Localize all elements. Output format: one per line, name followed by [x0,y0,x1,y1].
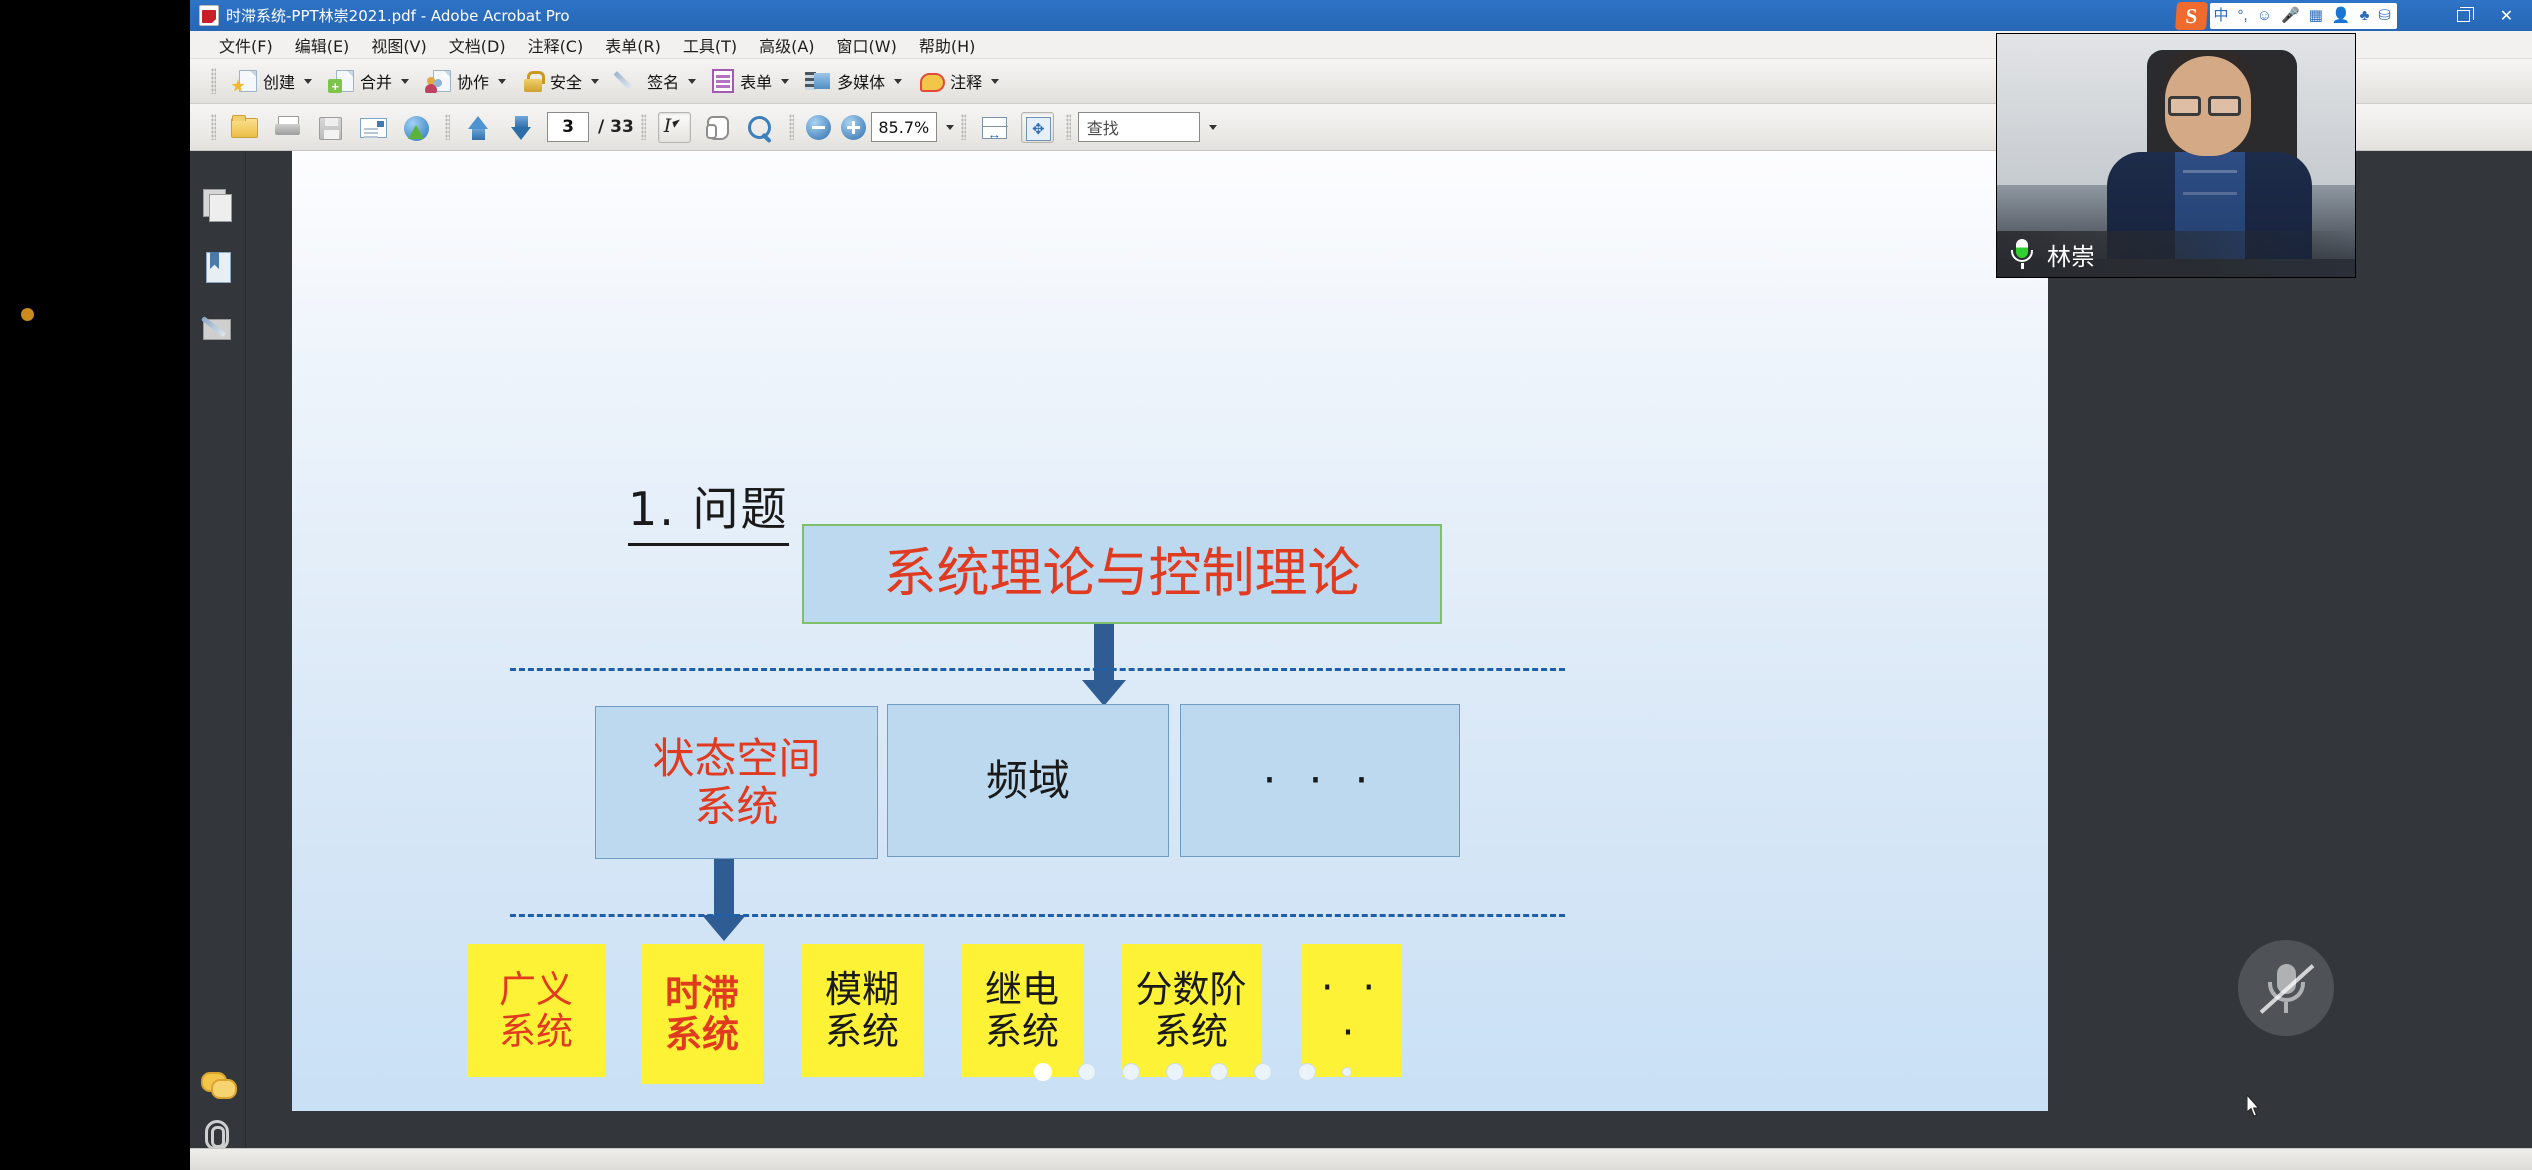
slide-pagination-dots [1034,1063,1352,1081]
combine-files-icon [328,69,354,93]
document-viewport[interactable]: 1. 问题 系统理论与控制理论 状态空间 系统 频域 · · · 广义 系统 时 [246,151,2532,1148]
chevron-down-icon[interactable] [894,79,902,84]
window-controls[interactable]: ✕ [2442,0,2528,31]
create-label: 创建 [263,69,295,93]
pagination-dot[interactable] [1254,1063,1272,1081]
text-select-icon[interactable] [658,112,691,143]
box-mid-ellipsis: · · · [1180,704,1460,857]
slide-title: 1. 问题 [628,473,789,546]
sign-button[interactable]: 签名 [607,66,704,96]
box-relay-system: 继电 系统 [961,944,1083,1077]
collaborate-icon [425,69,451,93]
sidebar-navigation-rail [190,151,246,1170]
collaborate-label: 协作 [457,69,489,93]
toolbar-grip[interactable] [445,114,450,140]
comment-button[interactable]: 注释 [910,66,1007,96]
form-label: 表单 [740,69,772,93]
fit-page-icon[interactable] [1021,112,1054,143]
collaborate-button[interactable]: 协作 [417,66,514,96]
status-bar [190,1148,2532,1170]
ime-panel[interactable]: 中 °, ☺ 🎤 ▦ 👤 ♣ ⛁ [2210,3,2398,29]
sidebar-attachments-icon[interactable] [205,1120,229,1150]
speech-bubble-icon [918,70,944,92]
box-systems-and-control-theory: 系统理论与控制理论 [802,524,1442,624]
mute-microphone-button[interactable] [2238,940,2334,1036]
toolbar-grip[interactable] [1066,114,1071,140]
user-icon[interactable]: 👤 [2332,8,2351,23]
screen-indicator-dot [21,308,34,321]
multimedia-button[interactable]: 多媒体 [797,66,910,96]
menu-comment[interactable]: 注释(C) [517,30,595,60]
chinese-mode-icon[interactable]: 中 [2214,8,2229,23]
chevron-down-icon[interactable] [781,79,789,84]
marquee-zoom-icon[interactable] [744,112,777,143]
sidebar-bookmarks-icon[interactable] [201,251,234,284]
chevron-down-icon[interactable] [401,79,409,84]
chevron-down-icon[interactable] [498,79,506,84]
toolbar-grip[interactable] [211,114,216,140]
title-bar: 时滞系统-PPT林崇2021.pdf - Adobe Acrobat Pro 中… [190,0,2532,31]
sidebar-pages-icon[interactable] [201,189,234,222]
pagination-dot[interactable] [1342,1067,1352,1077]
hand-icon[interactable] [701,112,734,143]
toolbar-grip[interactable] [961,114,966,140]
create-button[interactable]: 创建 [223,66,320,96]
skin-icon[interactable]: ♣ [2360,8,2370,23]
form-icon [712,69,734,93]
previous-page-button[interactable] [462,112,495,143]
toolbox-icon[interactable]: ⛁ [2378,8,2391,23]
emoji-icon[interactable]: ☺ [2257,8,2272,23]
webcam-video-overlay[interactable]: 林崇 [1996,33,2356,278]
pagination-dot[interactable] [1166,1063,1184,1081]
arrow-down-to-subtypes [702,859,746,941]
next-page-button[interactable] [505,112,538,143]
publish-web-icon[interactable] [400,112,433,143]
chevron-down-icon[interactable] [1209,125,1217,130]
combine-button[interactable]: 合并 [320,66,417,96]
lock-icon [522,69,544,93]
chevron-down-icon[interactable] [946,125,954,130]
dashed-divider-bottom [510,914,1565,917]
pagination-dot[interactable] [1122,1063,1140,1081]
mouse-cursor [2247,1095,2262,1117]
zoom-out-icon[interactable] [806,115,831,140]
comment-label: 注释 [950,69,982,93]
open-folder-icon[interactable] [228,112,261,143]
pagination-dot[interactable] [1078,1063,1096,1081]
chevron-down-icon[interactable] [688,79,696,84]
zoom-level-input[interactable]: 85.7% [871,112,937,142]
menu-form[interactable]: 表单(R) [594,30,672,60]
arrow-down-to-branches [1082,624,1126,706]
menu-window[interactable]: 窗口(W) [826,30,908,60]
page-total-label: / 33 [598,117,634,137]
webcam-name-label: 林崇 [1997,231,2355,277]
fit-width-icon[interactable] [978,112,1011,143]
toolbar-grip[interactable] [641,114,646,140]
menu-view[interactable]: 视图(V) [360,30,437,60]
menu-file[interactable]: 文件(F) [208,30,284,60]
menu-document[interactable]: 文档(D) [438,30,517,60]
email-icon[interactable] [357,112,390,143]
pagination-dot[interactable] [1034,1063,1052,1081]
security-label: 安全 [550,69,582,93]
chevron-down-icon[interactable] [304,79,312,84]
box-fractional-order-system: 分数阶 系统 [1121,944,1261,1077]
menu-tools[interactable]: 工具(T) [672,30,748,60]
zoom-in-icon[interactable] [841,115,866,140]
save-disk-icon[interactable] [314,112,347,143]
punctuation-icon[interactable]: °, [2238,8,2248,23]
pdf-document-icon [199,5,219,26]
pagination-dot[interactable] [1298,1063,1316,1081]
pdf-page: 1. 问题 系统理论与控制理论 状态空间 系统 频域 · · · 广义 系统 时 [292,151,2048,1111]
sidebar-signatures-icon[interactable] [201,313,234,346]
toolbar-grip[interactable] [789,114,794,140]
box-singular-system: 广义 系统 [467,944,605,1077]
participant-name: 林崇 [2047,237,2095,272]
box-time-delay-system: 时滞 系统 [641,944,763,1084]
voice-input-icon[interactable]: 🎤 [2281,8,2300,23]
pen-icon [615,69,641,93]
form-button[interactable]: 表单 [704,66,797,96]
restore-button[interactable] [2442,0,2485,31]
page-number-input[interactable]: 3 [547,112,589,142]
create-pdf-icon [231,69,257,93]
menu-advanced[interactable]: 高级(A) [748,30,825,60]
menu-edit[interactable]: 编辑(E) [284,30,361,60]
sign-label: 签名 [647,69,679,93]
screen: 时滞系统-PPT林崇2021.pdf - Adobe Acrobat Pro 中… [0,0,2532,1170]
microphone-icon [2011,239,2033,269]
combine-label: 合并 [360,69,392,93]
menu-help[interactable]: 帮助(H) [908,30,987,60]
window-title: 时滞系统-PPT林崇2021.pdf - Adobe Acrobat Pro [226,5,570,26]
box-frequency-domain: 频域 [887,704,1169,857]
toolbar-grip[interactable] [211,68,216,94]
sogou-logo-icon[interactable] [2175,2,2208,30]
dashed-divider-top [510,668,1565,671]
chevron-down-icon[interactable] [991,79,999,84]
security-button[interactable]: 安全 [514,66,607,96]
box-bottom-ellipsis: · · · [1302,944,1402,1077]
soft-keyboard-icon[interactable]: ▦ [2309,8,2323,23]
chevron-down-icon[interactable] [591,79,599,84]
slide-content: 1. 问题 系统理论与控制理论 状态空间 系统 频域 · · · 广义 系统 时 [292,151,2048,1111]
box-state-space: 状态空间 系统 [595,706,878,859]
pagination-dot[interactable] [1210,1063,1228,1081]
close-button[interactable]: ✕ [2485,0,2528,31]
sogou-ime-toolbar[interactable]: 中 °, ☺ 🎤 ▦ 👤 ♣ ⛁ [2176,2,2398,29]
box-fuzzy-system: 模糊 系统 [801,944,923,1077]
multimedia-label: 多媒体 [837,69,885,93]
search-input[interactable]: 查找 [1078,112,1200,142]
printer-icon[interactable] [271,112,304,143]
film-icon [805,69,831,93]
sidebar-comments-icon[interactable] [201,1072,234,1098]
